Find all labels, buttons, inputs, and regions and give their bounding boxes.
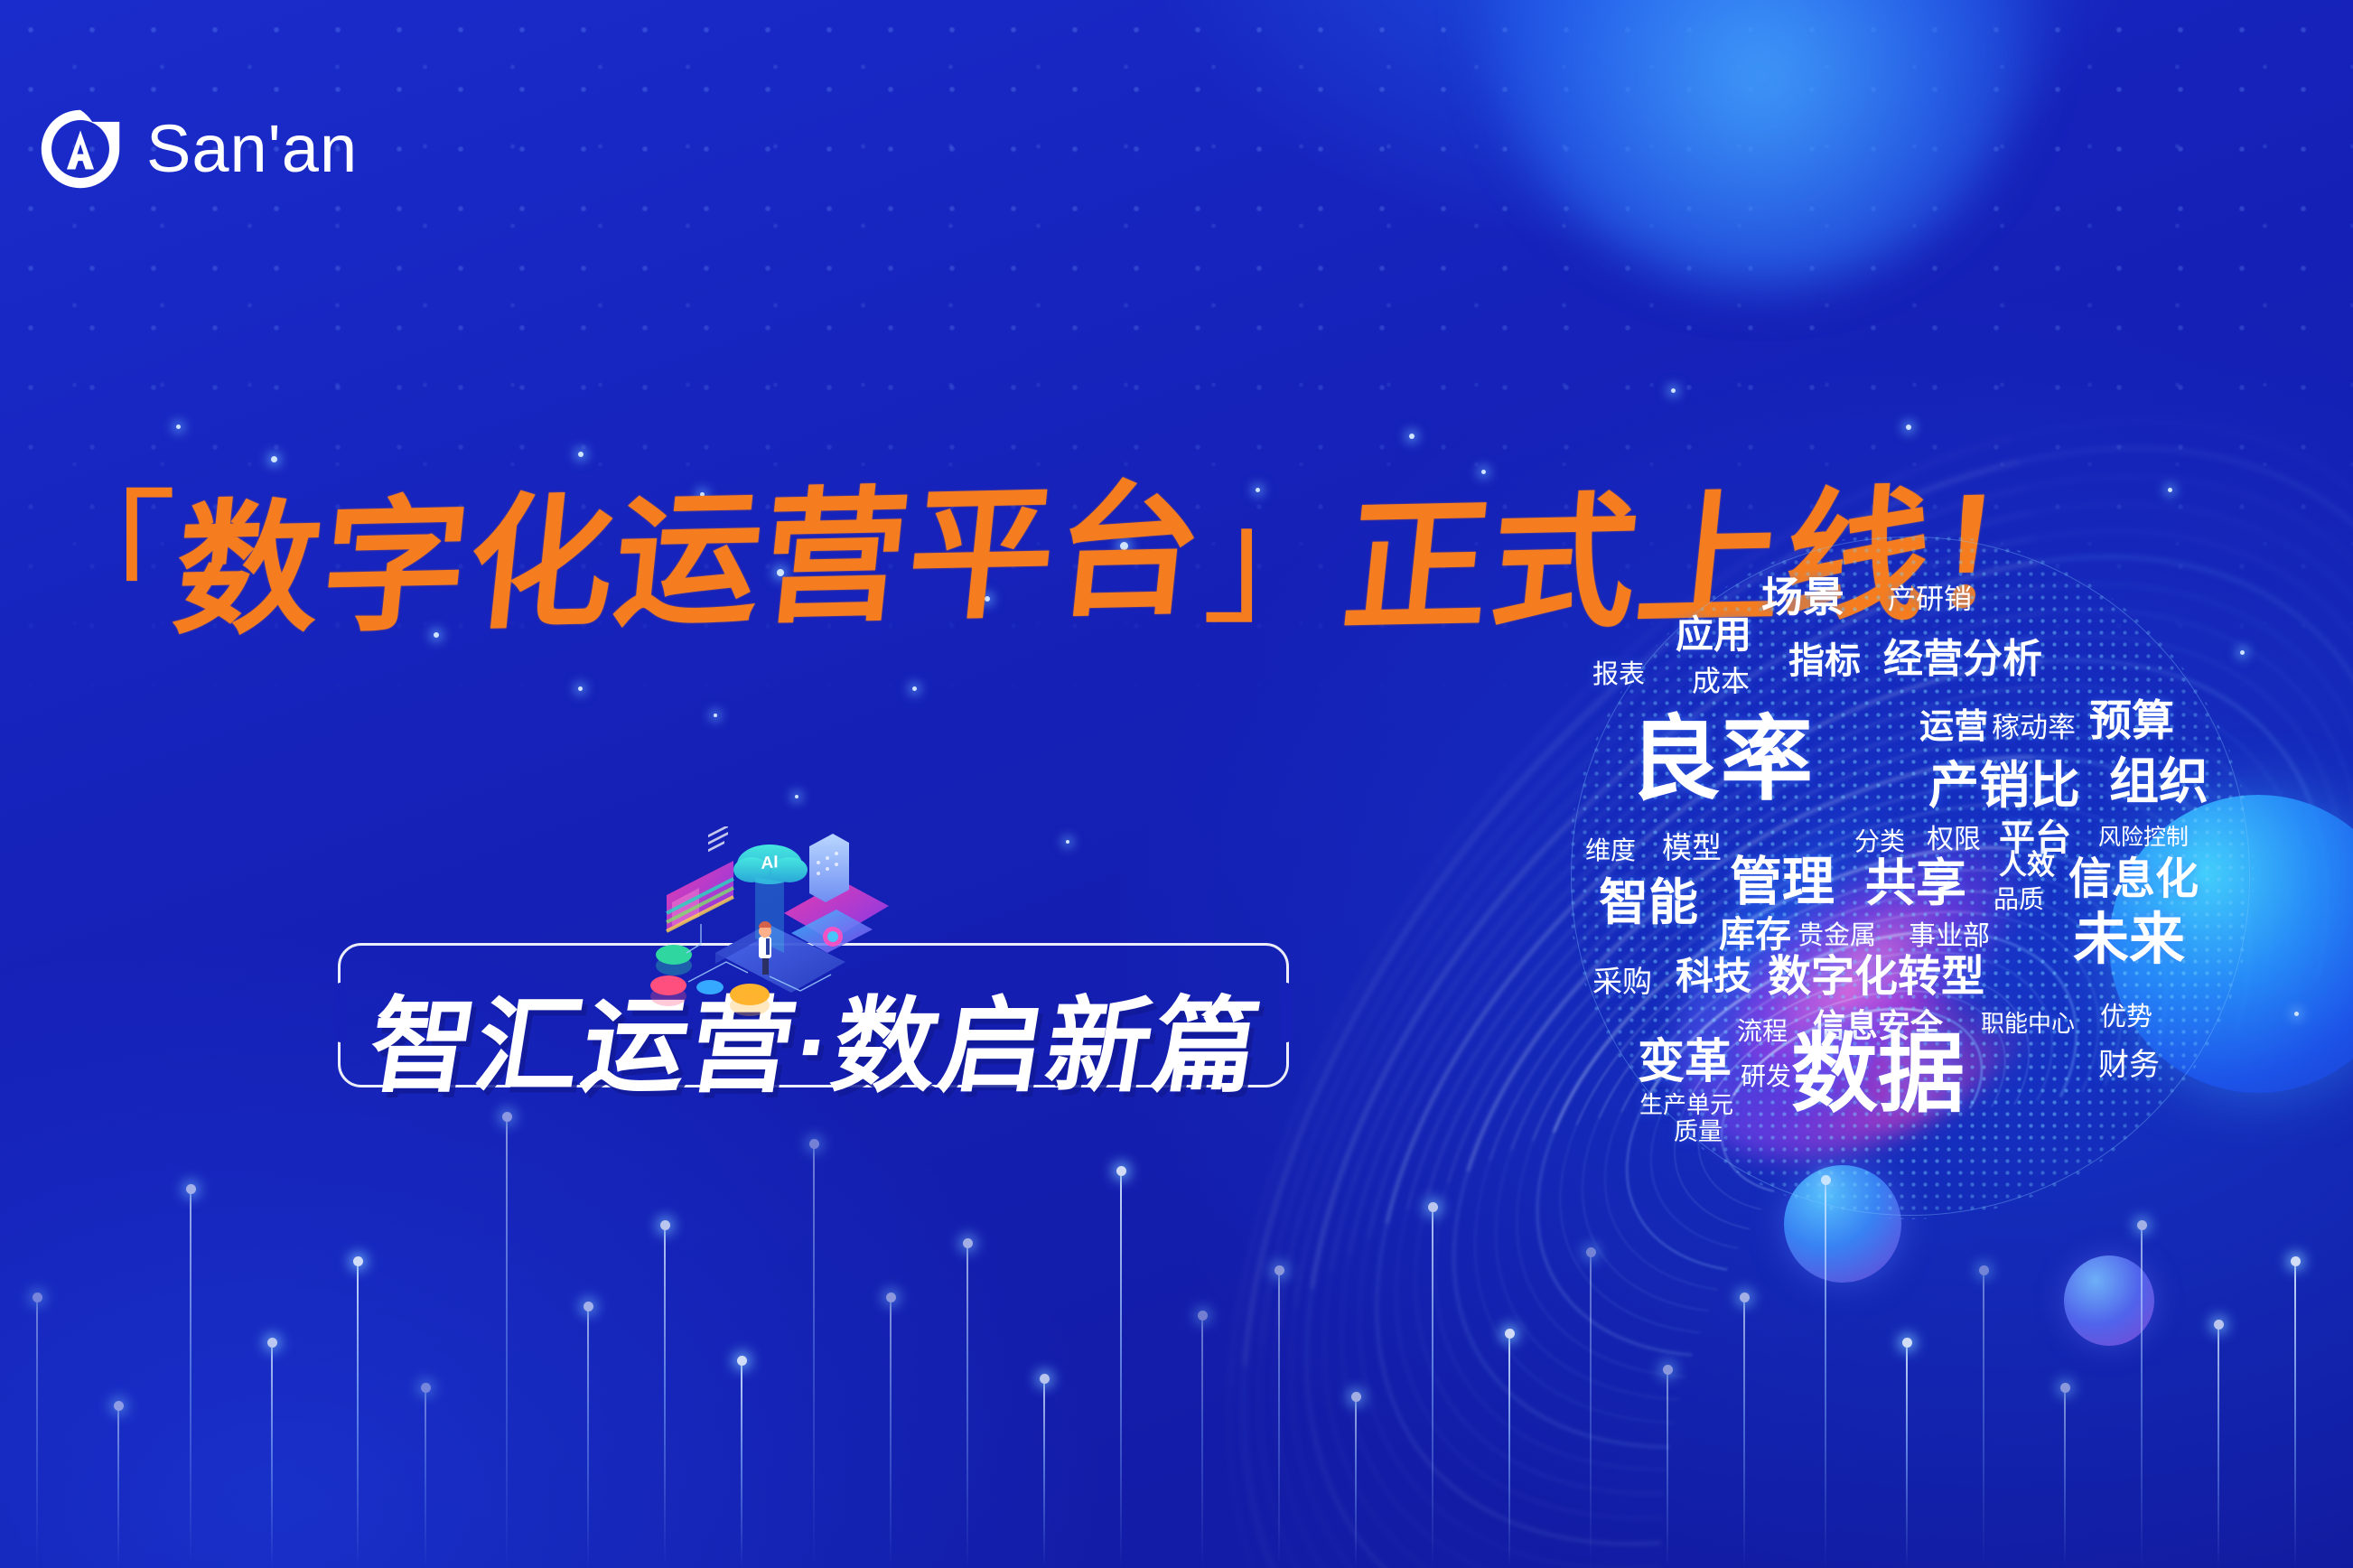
keyword-chip: 变革 [1638, 1039, 1732, 1086]
brand-logo[interactable]: San'an [38, 107, 358, 191]
light-beam [1667, 1369, 1668, 1568]
keyword-chip: 成本 [1692, 667, 1750, 695]
light-beam [813, 1143, 815, 1568]
keyword-chip: 智能 [1599, 878, 1698, 928]
sparkle [2294, 1012, 2299, 1016]
keyword-chip: 信息化 [2068, 858, 2199, 901]
keyword-chip: 应用 [1676, 616, 1751, 654]
keyword-chip: 良率 [1629, 714, 1813, 806]
keyword-chip: 研发 [1741, 1064, 1791, 1089]
keyword-chip: 流程 [1737, 1019, 1788, 1044]
light-beam [1201, 1315, 1203, 1568]
keyword-chip: 财务 [2098, 1050, 2160, 1080]
light-beam [1508, 1333, 1510, 1568]
keyword-chip: 经营分析 [1883, 639, 2042, 679]
light-beam [506, 1116, 508, 1568]
sparkle [1671, 388, 1676, 393]
light-beam [36, 1297, 38, 1568]
light-beam [1043, 1378, 1045, 1568]
keyword-chip: 科技 [1676, 957, 1751, 995]
keyword-chip: 风险控制 [2098, 826, 2189, 849]
light-beam [1432, 1207, 1433, 1568]
light-beam [2294, 1261, 2296, 1568]
sanan-circle-a-logo-icon [38, 107, 123, 191]
light-beam [741, 1360, 742, 1568]
digital-operations-keyword-globe: 场景产研销应用报表成本指标经营分析运营稼动率预算良率产销比组织维度模型分类权限平… [1567, 533, 2254, 1219]
keyword-chip: 品质 [1994, 887, 2044, 912]
light-beam [117, 1405, 119, 1568]
sparkle [578, 686, 583, 691]
keyword-chip: 共享 [1865, 858, 1966, 909]
sparkle [1066, 840, 1069, 844]
keyword-chip: 贵金属 [1797, 923, 1876, 949]
keyword-chip: 生产单元 [1639, 1093, 1733, 1116]
light-beam [1120, 1171, 1122, 1568]
keyword-chip: 采购 [1592, 966, 1652, 996]
keyword-chip: 产研销 [1888, 585, 1972, 613]
light-beam [190, 1189, 191, 1568]
keyword-chip: 指标 [1788, 643, 1861, 679]
keyword-chip: 人效 [1999, 851, 2055, 879]
light-beam [1355, 1396, 1357, 1568]
sparkle [912, 686, 917, 691]
keyword-chip: 稼动率 [1992, 714, 2076, 742]
sparkle [578, 452, 584, 457]
sparkle [1409, 434, 1415, 439]
keyword-chip: 管理 [1730, 856, 1835, 909]
light-beam [425, 1387, 426, 1568]
keyword-chip: 产销比 [1928, 761, 2080, 811]
sparkle [2168, 488, 2172, 492]
sparkle [1481, 470, 1486, 474]
keyword-chip: 未来 [2073, 912, 2185, 968]
light-beam [271, 1342, 273, 1568]
keyword-chip: 报表 [1592, 662, 1645, 688]
keyword-chip: 数字化转型 [1768, 956, 1984, 999]
light-beam [2141, 1225, 2143, 1568]
light-beam [1590, 1252, 1592, 1568]
light-beam [587, 1306, 589, 1568]
headline-close-bracket: 」 [1201, 488, 1346, 632]
keyword-chip: 组织 [2109, 757, 2208, 807]
light-beam [1278, 1270, 1280, 1568]
keyword-chip: 场景 [1761, 576, 1844, 618]
light-beam [2218, 1324, 2219, 1568]
light-beam [890, 1297, 892, 1568]
sparkle [795, 795, 798, 798]
light-beam [2064, 1387, 2066, 1568]
light-beam [1906, 1342, 1908, 1568]
headline-open-bracket: 「 [33, 488, 177, 632]
keyword-chip: 职能中心 [1981, 1012, 2075, 1035]
brand-name: San'an [146, 116, 358, 182]
sparkle [176, 425, 181, 429]
light-beam [664, 1225, 666, 1568]
keyword-chip: 数据 [1791, 1031, 1965, 1118]
keyword-chip: 运营 [1919, 710, 1988, 744]
sparkle [271, 456, 277, 462]
keyword-chip: 权限 [1927, 826, 1981, 854]
sparkle [714, 714, 717, 717]
promo-banner: San'an 「 数字化运营平台 」 正式上线！ 智汇运营·数启新篇 [0, 0, 2353, 1568]
light-beam [1743, 1297, 1745, 1568]
light-beam [357, 1261, 359, 1568]
isometric-digital-platform-illustration: AI [632, 826, 894, 1021]
keyword-chip: 库存 [1719, 917, 1791, 953]
sparkle [1906, 425, 1911, 430]
keyword-chip: 优势 [2100, 1004, 2152, 1031]
keyword-chip: 质量 [1674, 1120, 1723, 1144]
keyword-chip: 事业部 [1909, 923, 1990, 950]
keyword-chip: 分类 [1854, 829, 1905, 854]
light-beam [1825, 1180, 1826, 1568]
keyword-chip: 预算 [2089, 699, 2174, 742]
svg-text:AI: AI [761, 853, 778, 873]
light-beam [1983, 1270, 1984, 1568]
keyword-chip: 维度 [1585, 838, 1636, 863]
headline-quoted-text: 数字化运营平台 [169, 477, 1210, 643]
keyword-chip: 模型 [1662, 833, 1722, 863]
light-beam [966, 1243, 968, 1568]
